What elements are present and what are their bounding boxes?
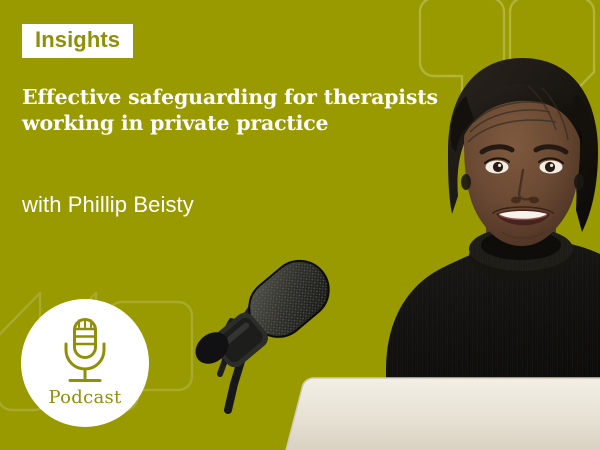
page-title: Effective safeguarding for therapists wo… [22, 84, 452, 136]
microphone-icon [21, 316, 149, 384]
podcast-badge-label: Podcast [21, 387, 149, 408]
insights-badge-label: Insights [35, 28, 120, 52]
podcast-badge: Podcast [21, 299, 149, 427]
presenter-name: with Phillip Beisty [22, 192, 194, 218]
insights-badge: Insights [22, 24, 133, 58]
presenter-photo [190, 0, 600, 450]
podcast-promo-card: Insights Effective safeguarding for ther… [0, 0, 600, 450]
